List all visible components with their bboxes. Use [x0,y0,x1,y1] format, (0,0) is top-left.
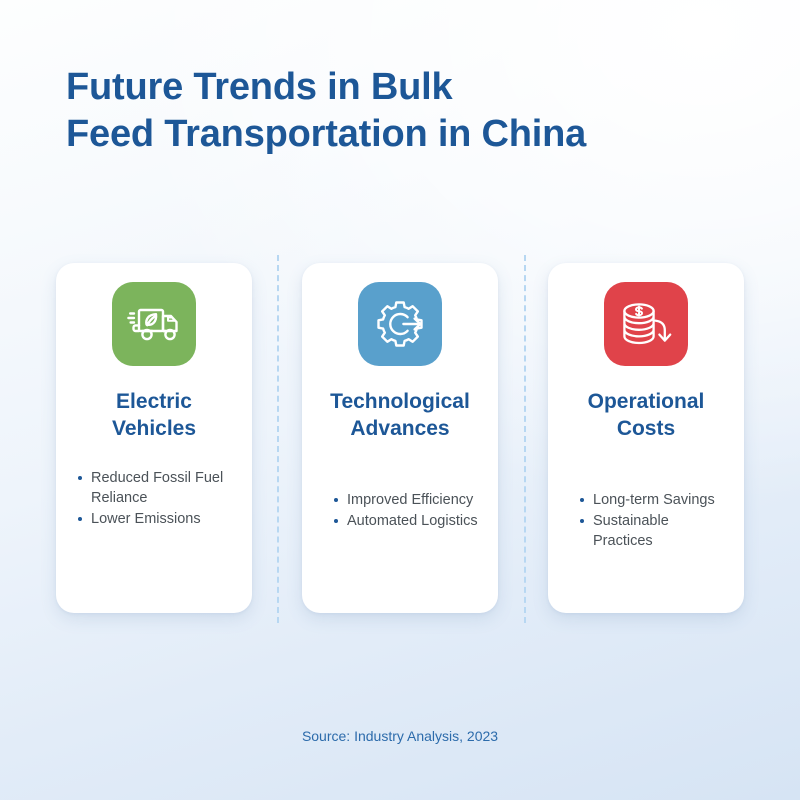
card-title-line-2: Costs [560,415,732,442]
page-title-line-1: Future Trends in Bulk [66,64,726,111]
card-title-line-1: Electric [68,388,240,415]
list-item: Reduced Fossil Fuel Reliance [76,468,240,508]
card-operational-costs[interactable]: Operational Costs Long-term Savings Sust… [548,263,744,613]
card-technological-advances[interactable]: Technological Advances Improved Efficien… [302,263,498,613]
card-bullets-operational-costs: Long-term Savings Sustainable Practices [560,490,732,551]
card-title-line-2: Vehicles [68,415,240,442]
card-title-operational-costs: Operational Costs [560,388,732,442]
card-electric-vehicles[interactable]: Electric Vehicles Reduced Fossil Fuel Re… [56,263,252,613]
icon-tile-electric-vehicles [112,282,196,366]
infographic-canvas: Future Trends in Bulk Feed Transportatio… [0,0,800,800]
list-item: Improved Efficiency [332,490,486,510]
list-item: Automated Logistics [332,511,486,531]
icon-tile-technological-advances [358,282,442,366]
card-divider-2 [524,255,526,623]
source-caption: Source: Industry Analysis, 2023 [0,728,800,744]
list-item: Sustainable Practices [578,511,732,551]
card-bullets-technological-advances: Improved Efficiency Automated Logistics [314,490,486,531]
page-title: Future Trends in Bulk Feed Transportatio… [66,64,726,158]
card-divider-1 [277,255,279,623]
list-item: Lower Emissions [76,509,240,529]
electric-delivery-truck-icon [126,303,182,345]
card-title-line-1: Operational [560,388,732,415]
page-title-line-2: Feed Transportation in China [66,111,726,158]
list-item: Long-term Savings [578,490,732,510]
coin-stack-down-arrow-icon [619,300,673,348]
card-title-line-2: Advances [314,415,486,442]
card-title-electric-vehicles: Electric Vehicles [68,388,240,442]
card-title-line-1: Technological [314,388,486,415]
card-bullets-electric-vehicles: Reduced Fossil Fuel Reliance Lower Emiss… [68,468,240,529]
gear-arrow-icon [373,299,427,349]
icon-tile-operational-costs [604,282,688,366]
card-title-technological-advances: Technological Advances [314,388,486,442]
cards-row: Electric Vehicles Reduced Fossil Fuel Re… [0,263,800,615]
